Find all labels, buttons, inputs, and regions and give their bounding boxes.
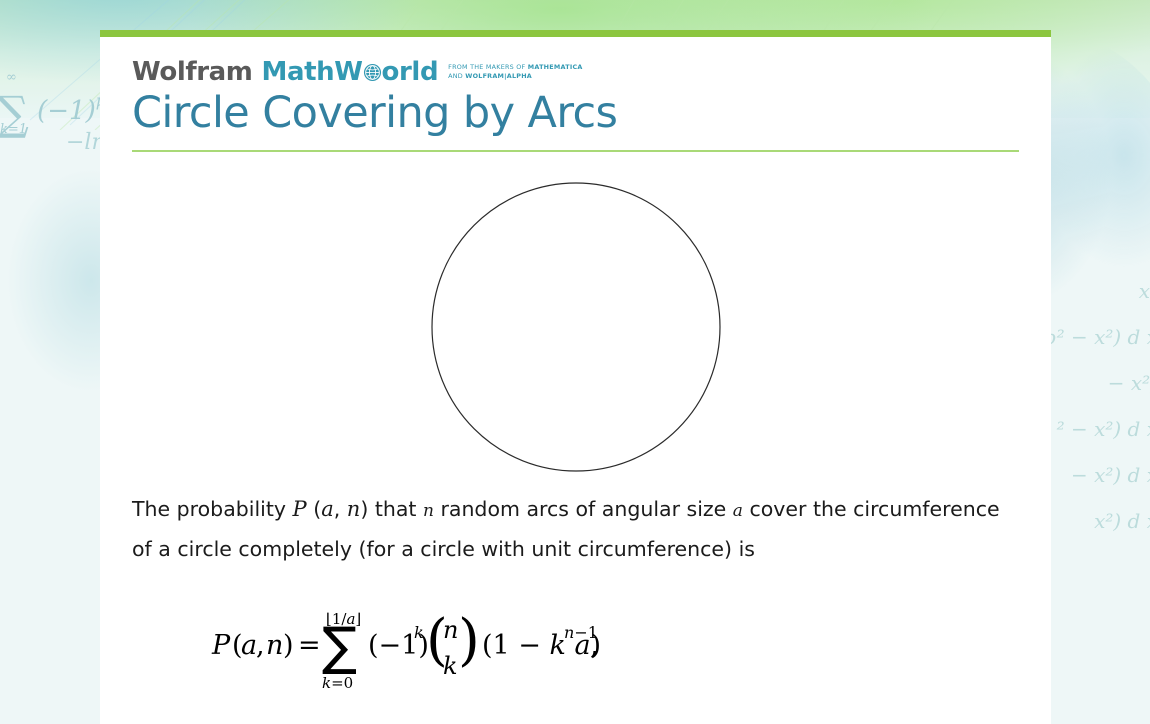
math-var-n: n [347, 497, 361, 521]
background-right-formula-line: x²) d x [1036, 498, 1150, 544]
trailing-paragraph: where ⌊x⌋ is the floor function (Solomon… [132, 716, 1019, 724]
background-right-formula-line: ² − x²) d x [1036, 406, 1150, 452]
title-divider-rule [132, 150, 1019, 152]
eq-lhs-close: ) [283, 630, 294, 661]
background-right-formula-line: − x²) d x [1036, 452, 1150, 498]
eq-lhs-n: n [266, 630, 283, 661]
content-panel: Wolfram Math W orld From the makers of M… [100, 30, 1051, 724]
eq-sign-exponent: k [414, 623, 424, 642]
logo-tagline: From the makers of Mathematica and Wolfr… [448, 63, 582, 82]
eq-equals: = [298, 630, 321, 661]
background-right-formula-line: − x²) [1036, 360, 1150, 406]
body-text-segment: , [334, 497, 347, 521]
eq-trailing-comma: , [590, 630, 599, 661]
body-text-line-2: a circle completely (for a circle with u… [158, 537, 755, 561]
page-title: Circle Covering by Arcs [132, 91, 1019, 136]
figure-block [132, 172, 1019, 482]
logo-math-text: Math [262, 59, 335, 85]
panel-inner: Wolfram Math W orld From the makers of M… [100, 37, 1051, 724]
tagline-line-2: and Wolfram|Alpha [448, 72, 532, 80]
logo-world-text: orld [382, 59, 439, 85]
display-equation: P ( a , n ) = ⌊1/a⌋ ∑ k=0 (−1) k ( [132, 602, 1019, 694]
background-sum-lower-limit: k=1 [0, 122, 27, 137]
body-paragraph: The probability P (a, n) that n random a… [132, 490, 1012, 568]
background-formula-body: (−1) [37, 96, 96, 126]
eq-binom-top: n [443, 616, 458, 644]
eq-sum-lower: k=0 [322, 674, 353, 692]
tagline-line-1: From the makers of Mathematica [448, 63, 582, 71]
eq-lhs-P: P [211, 630, 231, 661]
eq-binom-bottom: k [443, 652, 458, 680]
site-logo[interactable]: Wolfram Math W orld From the makers of M… [132, 37, 1019, 77]
equation-svg: P ( a , n ) = ⌊1/a⌋ ∑ k=0 (−1) k ( [210, 602, 630, 694]
circle-figure [426, 177, 726, 477]
body-text-segment: ) that [360, 497, 423, 521]
logo-mathworld-word: Math W orld [262, 59, 439, 85]
background-right-formula-line: x² [1036, 268, 1150, 314]
tagline-prefix-1: From the makers of [448, 63, 528, 71]
math-var-a: a [321, 497, 334, 521]
eq-sum-glyph: ∑ [322, 617, 357, 677]
eq-lhs-a: a [241, 630, 257, 661]
eq-binom-right-paren: ) [458, 608, 480, 673]
math-var-n-2: n [423, 501, 434, 521]
logo-wolfram-word: Wolfram [132, 59, 253, 85]
eq-lhs-comma: , [256, 630, 265, 661]
background-right-formula-line: (b² − x²) d x [1036, 314, 1150, 360]
background-formula-right: x² (b² − x²) d x − x²) ² − x²) d x − x²)… [1036, 268, 1150, 544]
tagline-prefix-2: and [448, 72, 465, 80]
body-text-segment: ( [307, 497, 322, 521]
math-var-a-2: a [733, 501, 743, 521]
tagline-wolfram-alpha: Wolfram|Alpha [465, 72, 532, 80]
body-text-segment: random arcs of angular size [434, 497, 733, 521]
body-text-segment: The probability [132, 497, 293, 521]
background-sum-upper-limit: ∞ [6, 70, 17, 85]
logo-w-letter: W [334, 59, 362, 85]
globe-icon [363, 63, 382, 82]
tagline-mathematica: Mathematica [528, 63, 583, 71]
math-var-P: P [293, 497, 307, 521]
